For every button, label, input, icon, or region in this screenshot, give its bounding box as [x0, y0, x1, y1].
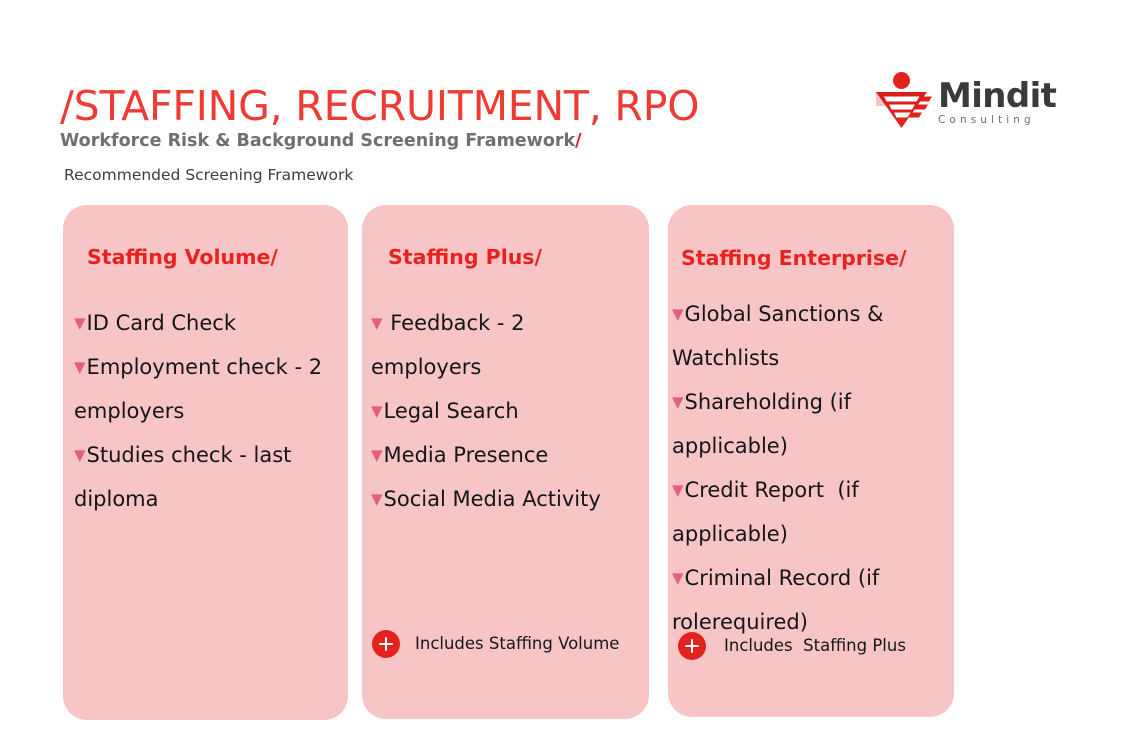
tier-cards: Staffing Volume/ ▼ID Card Check ▼Employm… [0, 0, 1124, 750]
down-triangle-bullet-icon: ▼ [74, 360, 86, 375]
list-item-label: Social Media Activity [384, 487, 601, 511]
list-item: ▼Global Sanctions & Watchlists [672, 292, 944, 380]
down-triangle-bullet-icon: ▼ [371, 316, 383, 331]
list-item-label: Feedback - 2 employers [371, 311, 531, 379]
card-title: Staffing Volume/ [87, 244, 278, 270]
tier-card-staffing-plus[interactable]: Staffing Plus/ ▼ Feedback - 2 employers … [362, 205, 649, 719]
down-triangle-bullet-icon: ▼ [371, 404, 383, 419]
card-bullet-list: ▼Global Sanctions & Watchlists ▼Sharehol… [672, 292, 944, 644]
list-item: ▼Shareholding (if applicable) [672, 380, 944, 468]
list-item-label: Employment check - 2 employers [74, 355, 329, 423]
list-item-label: Media Presence [384, 443, 549, 467]
list-item-label: Studies check - last diploma [74, 443, 298, 511]
includes-badge-row: Includes Staffing Volume [372, 630, 619, 658]
list-item-label: Global Sanctions & Watchlists [672, 302, 890, 370]
down-triangle-bullet-icon: ▼ [672, 571, 684, 586]
down-triangle-bullet-icon: ▼ [74, 316, 86, 331]
list-item: ▼ Feedback - 2 employers [371, 301, 639, 389]
tier-card-staffing-volume[interactable]: Staffing Volume/ ▼ID Card Check ▼Employm… [63, 205, 348, 720]
includes-label: Includes Staffing Volume [415, 633, 619, 655]
list-item: ▼Credit Report (if applicable) [672, 468, 944, 556]
card-bullet-list: ▼ID Card Check ▼Employment check - 2 emp… [74, 301, 336, 521]
list-item-label: Criminal Record (if rolerequired) [672, 566, 886, 634]
list-item-label: Credit Report (if applicable) [672, 478, 865, 546]
list-item-label: Legal Search [384, 399, 519, 423]
card-title: Staffing Enterprise/ [681, 245, 906, 271]
card-bullet-list: ▼ Feedback - 2 employers ▼Legal Search ▼… [371, 301, 639, 521]
includes-label: Includes Staffing Plus [724, 635, 906, 657]
list-item-label: ID Card Check [87, 311, 236, 335]
down-triangle-bullet-icon: ▼ [74, 448, 86, 463]
card-title: Staffing Plus/ [388, 244, 542, 270]
down-triangle-bullet-icon: ▼ [672, 395, 684, 410]
list-item: ▼Employment check - 2 employers [74, 345, 336, 433]
list-item: ▼ID Card Check [74, 301, 336, 345]
plus-circle-icon [372, 630, 400, 658]
down-triangle-bullet-icon: ▼ [371, 492, 383, 507]
list-item-label: Shareholding (if applicable) [672, 390, 858, 458]
list-item: ▼Media Presence [371, 433, 639, 477]
list-item: ▼Legal Search [371, 389, 639, 433]
tier-card-staffing-enterprise[interactable]: Staffing Enterprise/ ▼Global Sanctions &… [668, 205, 954, 717]
down-triangle-bullet-icon: ▼ [672, 483, 684, 498]
plus-circle-icon [678, 632, 706, 660]
down-triangle-bullet-icon: ▼ [371, 448, 383, 463]
list-item: ▼Social Media Activity [371, 477, 639, 521]
list-item: ▼Studies check - last diploma [74, 433, 336, 521]
includes-badge-row: Includes Staffing Plus [678, 632, 906, 660]
list-item: ▼Criminal Record (if rolerequired) [672, 556, 944, 644]
down-triangle-bullet-icon: ▼ [672, 307, 684, 322]
